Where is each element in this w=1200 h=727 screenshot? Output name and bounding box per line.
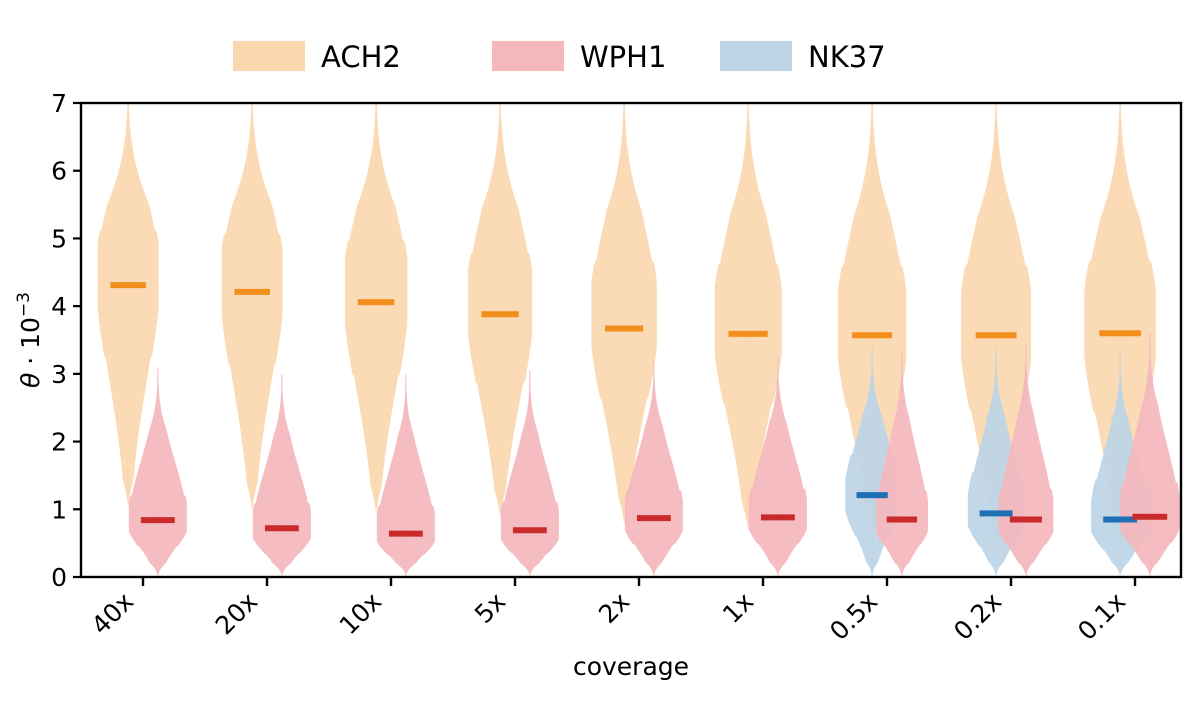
x-tick-label-20x: 20x [210, 587, 263, 640]
y-axis-title: θ · 10−3 [14, 292, 45, 388]
y-tick-label-4: 4 [51, 292, 67, 321]
plot-area [98, 76, 1180, 576]
y-tick-label-2: 2 [51, 428, 67, 457]
legend-label-wph1: WPH1 [580, 40, 666, 74]
legend-label-nk37: NK37 [808, 40, 886, 74]
y-title-theta: θ [16, 373, 45, 388]
x-tick-label-10x: 10x [334, 587, 387, 640]
y-tick-label-5: 5 [51, 224, 67, 253]
x-tick-label-0.2x: 0.2x [948, 587, 1007, 646]
x-tick-label-0.1x: 0.1x [1072, 587, 1131, 646]
legend-item-nk37: NK37 [720, 40, 886, 74]
x-axis-title: coverage [573, 652, 689, 681]
y-title-exponent: −3 [14, 292, 34, 317]
chart-svg: ACH2WPH1NK37 0123456740x20x10x5x2x1x0.5x… [0, 0, 1200, 727]
legend-item-ach2: ACH2 [233, 40, 401, 74]
y-tick-label-1: 1 [51, 495, 67, 524]
violin-chart-figure: ACH2WPH1NK37 0123456740x20x10x5x2x1x0.5x… [0, 0, 1200, 727]
y-tick-label-7: 7 [51, 89, 67, 118]
x-tick-label-0.5x: 0.5x [824, 587, 883, 646]
x-tick-label-2x: 2x [593, 587, 635, 629]
x-tick-label-1x: 1x [717, 587, 759, 629]
legend-swatch-ach2 [233, 41, 305, 71]
legend: ACH2WPH1NK37 [233, 40, 886, 74]
y-axis-title-text: θ · 10−3 [14, 292, 45, 388]
y-title-dot: · 10 [16, 317, 45, 373]
y-tick-label-6: 6 [51, 157, 67, 186]
legend-swatch-wph1 [492, 41, 564, 71]
legend-item-wph1: WPH1 [492, 40, 666, 74]
x-tick-label-40x: 40x [86, 587, 139, 640]
y-tick-label-0: 0 [51, 563, 67, 592]
legend-swatch-nk37 [720, 41, 792, 71]
legend-label-ach2: ACH2 [321, 40, 401, 74]
y-tick-label-3: 3 [51, 360, 67, 389]
x-tick-label-5x: 5x [469, 587, 511, 629]
